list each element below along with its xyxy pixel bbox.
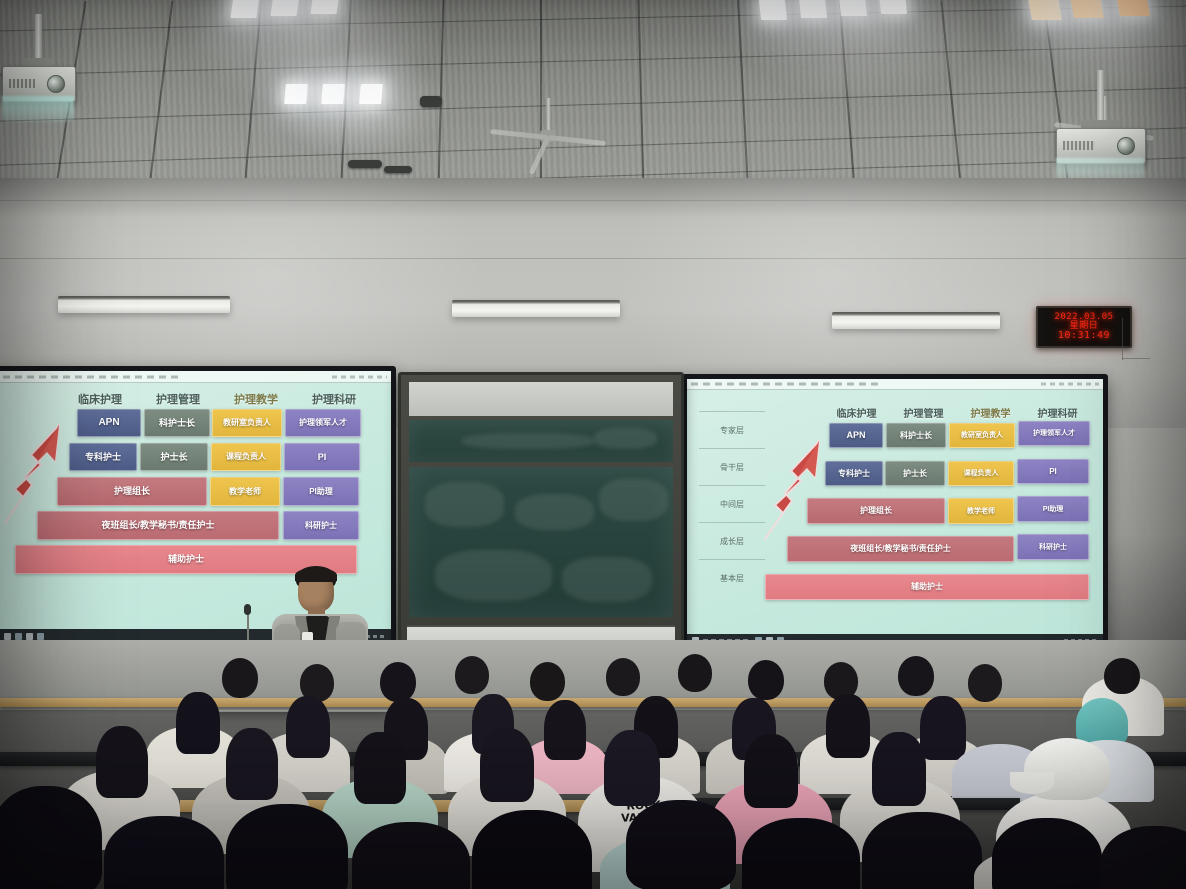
cell-head-nurse-dept[interactable]: 科护士长 [144, 409, 210, 437]
folder-icon[interactable] [15, 633, 22, 640]
blackboard [398, 372, 684, 668]
audience-head [455, 656, 489, 694]
slide-column-headers-right: 临床护理 护理管理 护理教学 护理科研 [823, 405, 1091, 420]
audience-hair-foreground [626, 800, 736, 889]
cell-teaching-teacher[interactable]: 教学老师 [210, 477, 280, 506]
audience-hair [354, 732, 406, 804]
audience-hair [544, 700, 586, 760]
row-label-growth: 成长层 [699, 522, 765, 560]
microphone-head-icon [244, 604, 251, 615]
audience-hair [286, 696, 330, 758]
led-clock-time: 10:31:49 [1058, 331, 1110, 341]
cell-nursing-leader[interactable]: 护理领军人才 [1018, 421, 1090, 446]
cell-teaching-office-lead[interactable]: 教研室负责人 [212, 409, 282, 437]
audience-hair [176, 692, 220, 754]
audience-hair [480, 728, 534, 802]
audience-head [678, 654, 712, 692]
audience-hair-foreground [0, 786, 102, 889]
column-header-research: 护理科研 [1024, 405, 1091, 420]
slide-right: 专家层 骨干层 中间层 成长层 基本层 临床护理 护理管理 护理教学 护理科研 [687, 379, 1103, 647]
cell-head-nurse-dept[interactable]: 科护士长 [886, 423, 946, 448]
row-label-expert: 专家层 [699, 411, 765, 449]
upward-growth-arrow-icon [761, 435, 823, 545]
column-header-research: 护理科研 [295, 391, 373, 407]
audience-head [530, 662, 565, 701]
cell-nursing-leader[interactable]: 护理领军人才 [285, 409, 361, 437]
smoke-detector-icon [348, 160, 382, 168]
smoke-detector-icon [420, 96, 442, 107]
slide-topbar-right [687, 379, 1103, 390]
wall-strip-light [58, 296, 230, 313]
cell-night-shift-lead-group[interactable]: 夜班组长/教学秘书/责任护士 [37, 511, 279, 540]
audience-hair-foreground [992, 818, 1102, 889]
cell-head-nurse[interactable]: 护士长 [885, 461, 945, 486]
audience-hair-foreground [226, 804, 348, 889]
cell-course-lead[interactable]: 课程负责人 [948, 461, 1014, 486]
audience-head [968, 664, 1002, 702]
slide-row-labels: 专家层 骨干层 中间层 成长层 基本层 [699, 411, 765, 593]
cell-head-nurse[interactable]: 护士长 [140, 443, 208, 471]
pen-icon[interactable] [37, 633, 44, 640]
cell-pi-assistant[interactable]: PI助理 [283, 477, 359, 506]
wall-cable [1122, 318, 1123, 360]
slide-topbar-left [0, 371, 391, 383]
row-label-basic: 基本层 [699, 559, 765, 597]
row-label-middle: 中间层 [699, 485, 765, 523]
audience-hair [826, 694, 870, 758]
audience-head [898, 656, 934, 696]
audience-hair [744, 734, 798, 808]
column-header-clinical: 临床护理 [61, 391, 139, 407]
audience-hair [872, 732, 926, 806]
column-header-management: 护理管理 [139, 391, 217, 407]
ceiling [0, 0, 1186, 186]
cell-research-nurse[interactable]: 科研护士 [1017, 534, 1089, 560]
audience-hair [96, 726, 148, 798]
wall-cable [1122, 358, 1150, 359]
cell-teaching-teacher[interactable]: 教学老师 [948, 498, 1014, 524]
column-header-teaching: 护理教学 [217, 391, 295, 407]
audience-hair-foreground [742, 818, 860, 889]
cell-specialist-nurse[interactable]: 专科护士 [69, 443, 137, 471]
browser-icon[interactable] [26, 633, 33, 640]
audience-hair-foreground [862, 812, 982, 889]
cell-apn[interactable]: APN [77, 409, 141, 437]
cell-course-lead[interactable]: 课程负责人 [211, 443, 281, 471]
cell-teaching-office-lead[interactable]: 教研室负责人 [949, 423, 1015, 448]
cell-research-nurse[interactable]: 科研护士 [283, 511, 359, 540]
audience-hair-foreground [352, 822, 470, 889]
lecture-hall-scene: 2022.03.05 星期日 10:31:49 临床护理 护理管理 护理教学 护… [0, 0, 1186, 889]
audience-head [380, 662, 416, 702]
start-icon[interactable] [4, 633, 11, 640]
right-display-panel[interactable]: 专家层 骨干层 中间层 成长层 基本层 临床护理 护理管理 护理教学 护理科研 [682, 374, 1108, 652]
audience-head [748, 660, 784, 700]
blackboard-surface [409, 467, 673, 617]
audience-area: ROCK VALLEY SA L [0, 640, 1186, 889]
wall-strip-light [452, 300, 620, 317]
audience-head [1104, 658, 1140, 694]
smoke-detector-icon [384, 166, 412, 173]
blackboard-sliding-panel [409, 420, 673, 462]
slide-column-headers-left: 临床护理 护理管理 护理教学 护理科研 [61, 391, 373, 407]
audience-hair-foreground [104, 816, 224, 889]
cap-brim [1010, 772, 1054, 794]
audience-hair [920, 696, 966, 760]
column-header-management: 护理管理 [890, 405, 957, 420]
cell-nursing-group-leader[interactable]: 护理组长 [807, 498, 945, 524]
right-screen[interactable]: 专家层 骨干层 中间层 成长层 基本层 临床护理 护理管理 护理教学 护理科研 [687, 379, 1103, 647]
blackboard-upper-panel [409, 382, 673, 416]
audience-hair [604, 730, 660, 806]
led-clock-display: 2022.03.05 星期日 10:31:49 [1036, 306, 1132, 348]
cell-night-shift-lead-group[interactable]: 夜班组长/教学秘书/责任护士 [787, 536, 1014, 562]
cell-pi[interactable]: PI [1017, 459, 1089, 484]
cell-pi[interactable]: PI [284, 443, 360, 471]
audience-head [222, 658, 258, 698]
audience-hair-foreground [472, 810, 592, 889]
cell-assistant-nurse[interactable]: 辅助护士 [765, 574, 1089, 600]
row-label-backbone: 骨干层 [699, 448, 765, 486]
cell-pi-assistant[interactable]: PI助理 [1017, 496, 1089, 522]
cell-specialist-nurse[interactable]: 专科护士 [825, 461, 883, 486]
column-header-clinical: 临床护理 [823, 405, 890, 420]
cell-apn[interactable]: APN [829, 423, 883, 448]
wall-strip-light [832, 312, 1000, 329]
audience-head [606, 658, 640, 696]
cell-nursing-group-leader[interactable]: 护理组长 [57, 477, 207, 506]
audience-hair [226, 728, 278, 800]
column-header-teaching: 护理教学 [957, 405, 1024, 420]
